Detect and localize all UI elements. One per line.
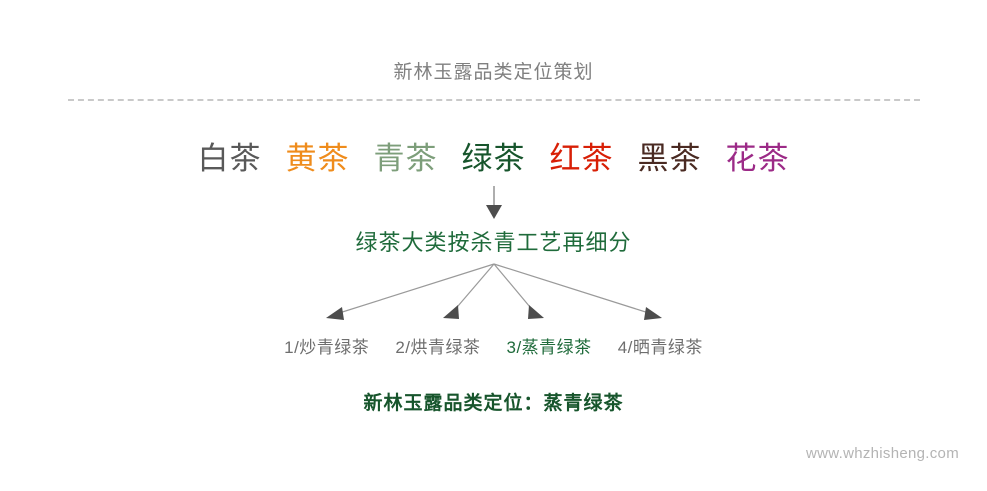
tea-category-hua: 花茶: [726, 140, 790, 177]
arrow-head-down: [486, 205, 502, 219]
arrow-head-3: [528, 305, 544, 319]
arrow-head-1: [326, 307, 344, 320]
tea-category-huang: 黄茶: [286, 140, 350, 177]
page-title: 新林玉露品类定位策划: [0, 57, 987, 84]
slide-canvas: 新林玉露品类定位策划 白茶 黄茶 青茶 绿茶 红茶 黑茶 花茶 绿茶大类按杀青工…: [0, 0, 987, 491]
tea-category-lv: 绿茶: [462, 140, 526, 177]
tea-category-bai: 白茶: [198, 140, 262, 177]
tea-category-hong: 红茶: [550, 140, 614, 177]
sub-category-row: 1/炒青绿茶 2/烘青绿茶 3/蒸青绿茶 4/晒青绿茶: [0, 333, 987, 358]
mid-heading: 绿茶大类按杀青工艺再细分: [0, 225, 987, 257]
arrow-line-1: [336, 264, 494, 314]
sub-category-shaiqing: 4/晒青绿茶: [618, 333, 703, 358]
tea-category-qing: 青茶: [374, 140, 438, 177]
tea-category-hei: 黑茶: [638, 140, 702, 177]
arrow-line-2: [452, 264, 494, 313]
header-divider: [68, 99, 920, 101]
footer-url: www.whzhisheng.com: [806, 445, 959, 462]
arrow-line-3: [494, 264, 535, 313]
arrow-head-4: [644, 307, 662, 320]
conclusion-text: 新林玉露品类定位：蒸青绿茶: [0, 388, 987, 415]
sub-category-chaoqing: 1/炒青绿茶: [284, 333, 369, 358]
sub-category-hongqing: 2/烘青绿茶: [395, 333, 480, 358]
sub-category-zhengqing: 3/蒸青绿茶: [507, 333, 592, 358]
tea-category-row: 白茶 黄茶 青茶 绿茶 红茶 黑茶 花茶: [0, 140, 987, 177]
arrow-line-4: [494, 264, 652, 314]
arrow-head-2: [443, 305, 459, 319]
